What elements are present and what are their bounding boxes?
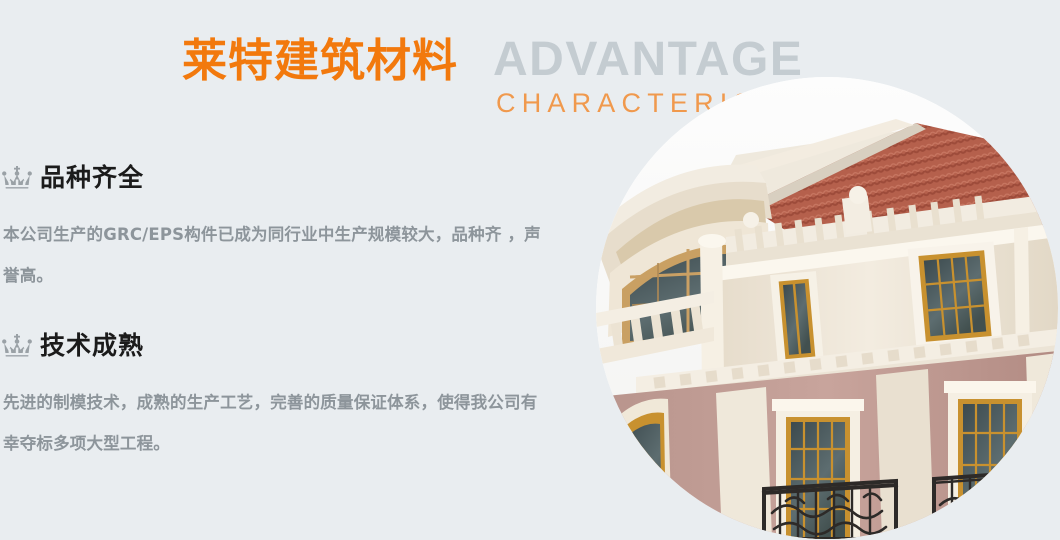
feature-block-technology: 技术成熟 先进的制模技术，成熟的生产工艺，完善的质量保证体系，使得我公司有幸夺标… <box>0 328 560 464</box>
feature-title: 技术成熟 <box>40 331 144 361</box>
feature-heading: 品种齐全 <box>2 160 560 196</box>
feature-description: 先进的制模技术，成熟的生产工艺，完善的质量保证体系，使得我公司有幸夺标多项大型工… <box>3 382 551 464</box>
feature-description: 本公司生产的GRC/EPS构件已成为同行业中生产规模较大，品种齐 ，声誉高。 <box>3 214 551 296</box>
crown-icon <box>2 165 32 191</box>
feature-heading: 技术成熟 <box>2 328 560 364</box>
feature-block-variety: 品种齐全 本公司生产的GRC/EPS构件已成为同行业中生产规模较大，品种齐 ，声… <box>0 160 560 296</box>
advantage-banner: 莱特建筑材料 ADVANTAGE CHARACTERISTIC <box>0 0 1060 540</box>
villa-illustration <box>596 77 1058 539</box>
feature-title: 品种齐全 <box>40 163 144 193</box>
crown-icon <box>2 333 32 359</box>
european-villa-facade-photo <box>596 77 1058 539</box>
page-title-chinese: 莱特建筑材料 <box>182 32 458 90</box>
page-title-english: ADVANTAGE <box>493 31 803 89</box>
